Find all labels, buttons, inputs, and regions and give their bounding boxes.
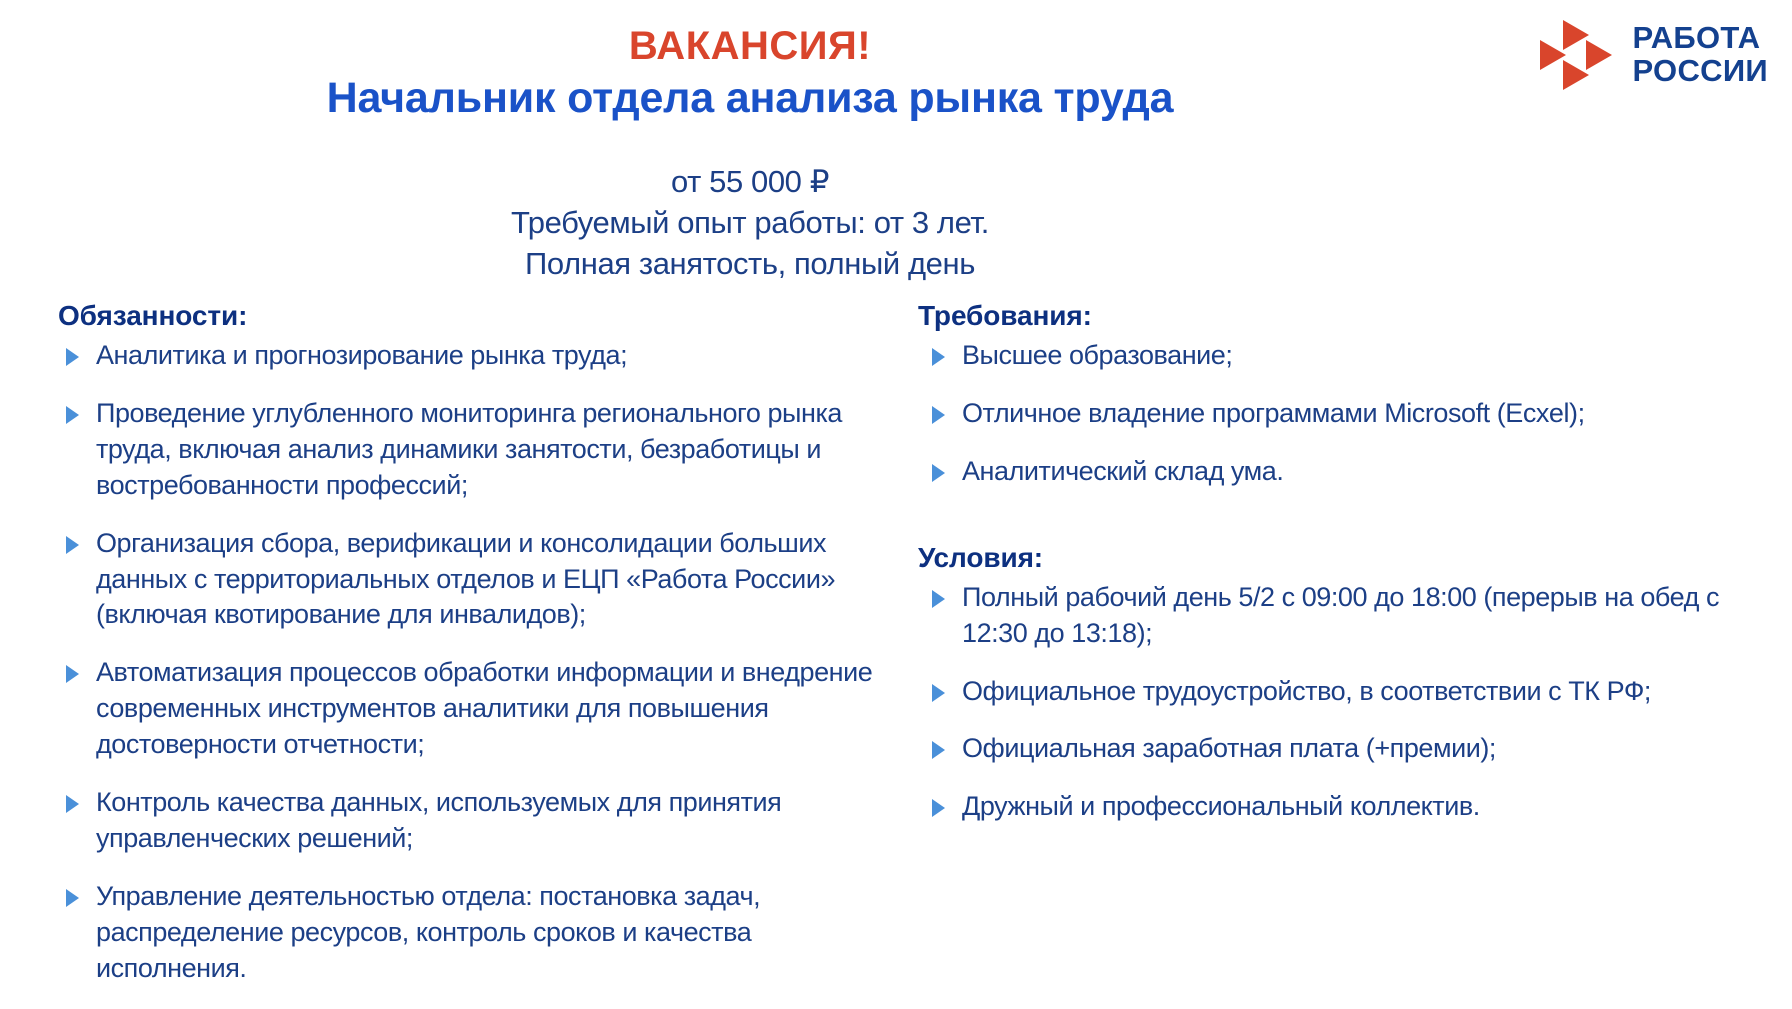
requirements-heading: Требования: xyxy=(918,300,1772,332)
list-item-text: Контроль качества данных, используемых д… xyxy=(96,787,781,853)
content-columns: Обязанности: Аналитика и прогнозирование… xyxy=(0,300,1792,1009)
triangle-right-icon xyxy=(932,348,945,366)
list-item: Аналитический склад ума. xyxy=(918,454,1772,490)
list-item: Управление деятельностью отдела: постано… xyxy=(58,879,882,987)
list-item: Автоматизация процессов обработки информ… xyxy=(58,655,882,763)
logo-wordmark-line2: РОССИИ xyxy=(1632,55,1768,88)
list-item-text: Официальное трудоустройство, в соответст… xyxy=(962,676,1651,706)
vacancy-label: ВАКАНСИЯ! xyxy=(0,24,1500,69)
page-title: Начальник отдела анализа рынка труда xyxy=(0,73,1500,125)
list-item-text: Проведение углубленного мониторинга реги… xyxy=(96,398,842,500)
logo-triangle-right-icon xyxy=(1586,40,1612,70)
list-item: Организация сбора, верификации и консоли… xyxy=(58,526,882,634)
triangle-right-icon xyxy=(932,799,945,817)
triangle-right-icon xyxy=(66,889,79,907)
triangle-right-icon xyxy=(66,665,79,683)
list-item: Дружный и профессиональный коллектив. xyxy=(918,789,1772,825)
page-title-block: ВАКАНСИЯ! Начальник отдела анализа рынка… xyxy=(0,24,1500,124)
list-item-text: Отличное владение программами Microsoft … xyxy=(962,398,1585,428)
list-item: Высшее образование; xyxy=(918,338,1772,374)
list-item-text: Аналитический склад ума. xyxy=(962,456,1283,486)
requirements-list: Высшее образование; Отличное владение пр… xyxy=(918,338,1772,490)
logo-triangles-mark xyxy=(1540,20,1618,90)
logo-wordmark-line1: РАБОТА xyxy=(1632,22,1768,55)
conditions-heading: Условия: xyxy=(918,542,1772,574)
list-item-text: Высшее образование; xyxy=(962,340,1232,370)
responsibilities-column: Обязанности: Аналитика и прогнозирование… xyxy=(0,300,910,1009)
requirements-conditions-column: Требования: Высшее образование; Отличное… xyxy=(910,300,1792,1009)
responsibilities-list: Аналитика и прогнозирование рынка труда;… xyxy=(58,338,882,987)
list-item-text: Организация сбора, верификации и консоли… xyxy=(96,528,835,630)
list-item: Аналитика и прогнозирование рынка труда; xyxy=(58,338,882,374)
triangle-right-icon xyxy=(932,741,945,759)
salary-text: от 55 000 ₽ xyxy=(0,162,1500,203)
brand-logo: РАБОТА РОССИИ xyxy=(1540,20,1768,90)
list-item: Контроль качества данных, используемых д… xyxy=(58,785,882,857)
triangle-right-icon xyxy=(66,406,79,424)
vacancy-summary: от 55 000 ₽ Требуемый опыт работы: от 3 … xyxy=(0,162,1500,285)
list-item: Проведение углубленного мониторинга реги… xyxy=(58,396,882,504)
list-item: Официальное трудоустройство, в соответст… xyxy=(918,674,1772,710)
logo-wordmark: РАБОТА РОССИИ xyxy=(1632,22,1768,87)
list-item-text: Аналитика и прогнозирование рынка труда; xyxy=(96,340,627,370)
triangle-right-icon xyxy=(932,590,945,608)
triangle-right-icon xyxy=(66,536,79,554)
list-item-text: Дружный и профессиональный коллектив. xyxy=(962,791,1480,821)
list-item: Полный рабочий день 5/2 с 09:00 до 18:00… xyxy=(918,580,1772,652)
triangle-right-icon xyxy=(932,464,945,482)
list-item: Официальная заработная плата (+премии); xyxy=(918,731,1772,767)
list-item-text: Автоматизация процессов обработки информ… xyxy=(96,657,872,759)
conditions-list: Полный рабочий день 5/2 с 09:00 до 18:00… xyxy=(918,580,1772,826)
experience-text: Требуемый опыт работы: от 3 лет. xyxy=(0,203,1500,244)
logo-triangle-bottom-icon xyxy=(1563,60,1589,90)
list-item-text: Официальная заработная плата (+премии); xyxy=(962,733,1496,763)
responsibilities-heading: Обязанности: xyxy=(58,300,882,332)
schedule-text: Полная занятость, полный день xyxy=(0,244,1500,285)
triangle-right-icon xyxy=(932,406,945,424)
triangle-right-icon xyxy=(932,684,945,702)
list-item: Отличное владение программами Microsoft … xyxy=(918,396,1772,432)
list-item-text: Управление деятельностью отдела: постано… xyxy=(96,881,760,983)
list-item-text: Полный рабочий день 5/2 с 09:00 до 18:00… xyxy=(962,582,1719,648)
triangle-right-icon xyxy=(66,348,79,366)
triangle-right-icon xyxy=(66,795,79,813)
